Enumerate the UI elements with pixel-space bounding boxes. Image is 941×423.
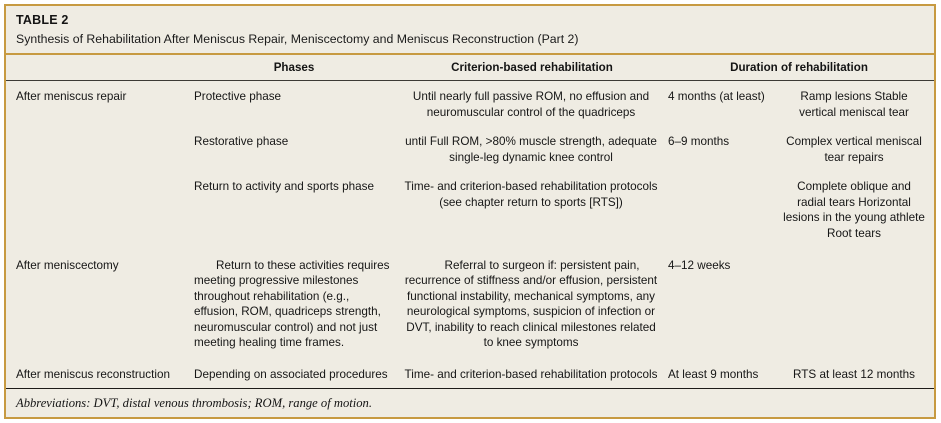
table-row: Return to activity and sports phase Time…	[6, 171, 934, 247]
cell-criterion-text: Until nearly full passive ROM, no effusi…	[404, 89, 658, 120]
cell-duration: 6–9 months	[664, 134, 778, 150]
table-grid: Phases Criterion-based rehabilitation Du…	[6, 55, 934, 388]
row-group-label: After meniscus repair	[6, 89, 188, 105]
cell-criterion: Time- and criterion-based rehabilitation…	[400, 179, 664, 210]
table-row: After meniscus repair Protective phase U…	[6, 81, 934, 126]
cell-phase: Protective phase	[188, 89, 400, 105]
row-group-label: After meniscectomy	[6, 258, 188, 274]
table-container: TABLE 2 Synthesis of Rehabilitation Afte…	[0, 0, 941, 423]
table-box: TABLE 2 Synthesis of Rehabilitation Afte…	[4, 4, 936, 419]
cell-phase: Return to these activities requires meet…	[188, 258, 400, 351]
cell-criterion: Time- and criterion-based rehabilitation…	[400, 367, 664, 383]
cell-indication: RTS at least 12 months	[778, 367, 934, 383]
cell-criterion-text: until Full ROM, >80% muscle strength, ad…	[404, 134, 658, 165]
cell-indication: Complex vertical meniscal tear repairs	[778, 134, 934, 165]
cell-indication: Complete oblique and radial tears Horizo…	[778, 179, 934, 241]
cell-phase: Restorative phase	[188, 134, 400, 150]
row-group-label: After meniscus reconstruction	[6, 367, 188, 383]
cell-criterion: until Full ROM, >80% muscle strength, ad…	[400, 134, 664, 165]
cell-indication: Ramp lesions Stable vertical meniscal te…	[778, 89, 934, 120]
cell-duration: At least 9 months	[664, 367, 778, 383]
table-row: After meniscectomy Return to these activ…	[6, 250, 934, 357]
table-row: Restorative phase until Full ROM, >80% m…	[6, 126, 934, 171]
cell-criterion: Until nearly full passive ROM, no effusi…	[400, 89, 664, 120]
cell-criterion: Referral to surgeon if: persistent pain,…	[400, 258, 664, 351]
table-footer: Abbreviations: DVT, distal venous thromb…	[6, 388, 934, 417]
table-label: TABLE 2	[16, 13, 924, 28]
column-header-criterion: Criterion-based rehabilitation	[400, 61, 664, 75]
cell-duration: 4 months (at least)	[664, 89, 778, 105]
abbreviations-note: Abbreviations: DVT, distal venous thromb…	[16, 395, 924, 411]
column-header-phases: Phases	[188, 61, 400, 75]
cell-criterion-text: Time- and criterion-based rehabilitation…	[405, 367, 658, 383]
table-row: After meniscus reconstruction Depending …	[6, 359, 934, 389]
cell-criterion-text: Time- and criterion-based rehabilitation…	[404, 179, 658, 210]
cell-phase: Return to activity and sports phase	[188, 179, 400, 195]
table-title-block: TABLE 2 Synthesis of Rehabilitation Afte…	[6, 6, 934, 55]
cell-phase: Depending on associated procedures	[188, 367, 400, 383]
cell-criterion-text: Referral to surgeon if: persistent pain,…	[405, 259, 657, 350]
table-caption: Synthesis of Rehabilitation After Menisc…	[16, 31, 924, 47]
cell-duration: 4–12 weeks	[664, 258, 778, 274]
column-header-duration: Duration of rehabilitation	[664, 61, 934, 75]
cell-phase-text: Return to these activities requires meet…	[194, 259, 389, 350]
table-header-row: Phases Criterion-based rehabilitation Du…	[6, 55, 934, 81]
